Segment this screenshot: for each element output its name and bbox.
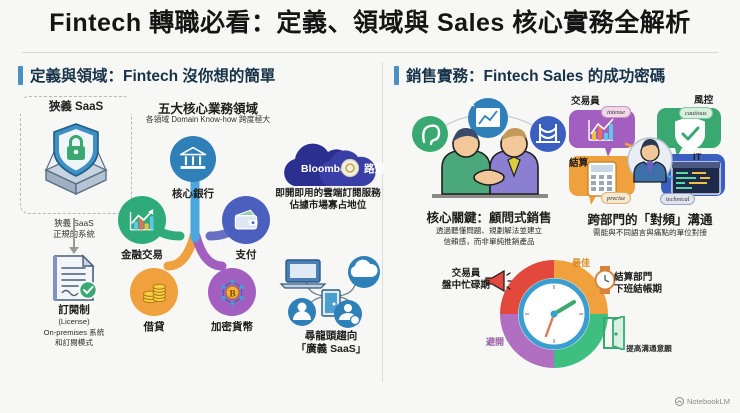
- license-subtitle: (License): [6, 317, 142, 328]
- reuters-brand-text: 路透: [364, 162, 385, 175]
- right-column-header: 銷售實務：Fintech Sales 的成功密碼: [394, 64, 665, 86]
- document-check-icon: [47, 252, 101, 304]
- bloomberg-caption-line1: 即開即用的雲端訂閱服務: [258, 188, 398, 200]
- settle-note-line1: 結算部門: [614, 272, 724, 284]
- broad-saas-caption: 尋龍頭趨向 「廣義 SaaS」: [268, 330, 394, 356]
- cross-dept-caption: 跨部門的「對頻」溝通 需能與不同語言與痛點的單位對接: [560, 212, 740, 239]
- settle-note-line2: 下班結帳期: [614, 284, 724, 296]
- avoid-timing-tag: 避開: [486, 335, 504, 348]
- door-note-text: 提高溝通意願: [604, 344, 694, 355]
- cross-dept-detail: 需能與不同語言與痛點的單位對接: [560, 228, 740, 239]
- domain-label-crypto: 加密貨幣: [211, 319, 253, 334]
- ear-listen-icon: [412, 116, 448, 152]
- trader-note-line2: 盤中忙碌期: [424, 280, 508, 292]
- bloomberg-caption-line2: 佔據市場寡占地位: [258, 200, 398, 212]
- left-column-header: 定義與領域：Fintech 沒你想的簡單: [18, 64, 275, 86]
- bitcoin-node-icon: B: [208, 268, 256, 316]
- dept-label-trader: 交易員: [571, 93, 600, 107]
- footer-watermark: NotebookLM: [675, 397, 730, 406]
- footer-brand-text: NotebookLM: [687, 397, 730, 406]
- trader-busy-note: 交易員 盤中忙碌期: [424, 268, 508, 292]
- domain-label-trading: 金融交易: [121, 247, 163, 262]
- right-header-text: 銷售實務：Fintech Sales 的成功密碼: [406, 64, 665, 86]
- dept-label-settlement: 結算: [569, 155, 588, 169]
- narrow-saas-label: 狹義 SaaS: [20, 98, 132, 114]
- license-detail-line1: On-premises 系統: [6, 328, 142, 339]
- consultative-detail-line1: 透過聽懂問題、規劃解法並建立: [394, 226, 584, 237]
- domain-node-lending[interactable]: 借貸: [130, 268, 178, 316]
- license-caption: 訂閱制 (License) On-premises 系統 和訂閱模式: [6, 304, 142, 349]
- dept-label-it: IT: [693, 152, 702, 163]
- license-detail-line2: 和訂閱模式: [6, 338, 142, 349]
- bridge-trust-icon: [530, 116, 566, 152]
- bubble-tag-technical: technical: [660, 193, 695, 205]
- license-title: 訂閱制: [6, 304, 142, 317]
- coin-stack-icon: [130, 268, 178, 316]
- infographic-page: Fintech 轉職必看：定義、領域與 Sales 核心實務全解析 定義與領域：…: [0, 0, 740, 413]
- left-header-text: 定義與領域：Fintech 沒你想的簡單: [30, 64, 275, 86]
- door-note: 提高溝通意願: [604, 344, 694, 355]
- settlement-note: 結算部門 下班結帳期: [614, 272, 724, 296]
- down-arrow-icon: [73, 218, 75, 248]
- notebooklm-icon: [675, 397, 684, 406]
- domain-label-payment: 支付: [236, 247, 257, 262]
- consultative-caption: 核心關鍵：顧問式銷售 透過聽懂問題、規劃解法並建立 信賴感，而非單純推銷產品: [394, 210, 584, 247]
- domain-label-core-banking: 核心銀行: [172, 186, 214, 201]
- domain-node-core-banking[interactable]: 核心銀行: [170, 136, 216, 182]
- devices-network-icon: [276, 252, 386, 330]
- bank-icon: [170, 136, 216, 182]
- laptop-icon: [281, 260, 325, 288]
- consultative-detail-line2: 信賴感，而非單純推銷產品: [394, 237, 584, 248]
- page-title: Fintech 轉職必看：定義、領域與 Sales 核心實務全解析: [0, 6, 740, 40]
- trader-note-line1: 交易員: [424, 268, 508, 280]
- right-header-accent-bar: [394, 66, 399, 85]
- domain-label-lending: 借貸: [144, 319, 165, 334]
- bubble-tag-cautious: cautious: [679, 107, 713, 119]
- left-header-accent-bar: [18, 66, 23, 85]
- consultative-title: 核心關鍵：顧問式銷售: [394, 210, 584, 226]
- cloud-icon: Bloomberg 路透: [268, 142, 388, 190]
- chart-growth-icon: [118, 196, 166, 244]
- bloomberg-caption: 即開即用的雲端訂閱服務 佔據市場寡占地位: [258, 188, 398, 212]
- broad-saas-caption-line1: 尋龍頭趨向: [268, 330, 394, 343]
- bubble-tag-intense: intense: [601, 106, 631, 118]
- cross-dept-title: 跨部門的「對頻」溝通: [560, 212, 740, 228]
- dept-label-risk: 風控: [694, 92, 713, 106]
- page-title-bar: Fintech 轉職必看：定義、領域與 Sales 核心實務全解析: [0, 6, 740, 40]
- bubble-tag-precise: precise: [601, 192, 631, 204]
- title-divider: [22, 52, 718, 53]
- svg-text:B: B: [229, 288, 235, 298]
- domain-node-crypto[interactable]: B 加密貨幣: [208, 268, 256, 316]
- broad-saas-caption-line2: 「廣義 SaaS」: [268, 343, 394, 356]
- domain-node-trading[interactable]: 金融交易: [118, 196, 166, 244]
- five-domains-subtitle: 各領域 Domain Know-how 跨度極大: [108, 114, 308, 125]
- best-timing-tag: 最佳: [572, 256, 590, 269]
- handshake-icon: [404, 96, 574, 208]
- shield-lock-box-icon: [38, 118, 114, 200]
